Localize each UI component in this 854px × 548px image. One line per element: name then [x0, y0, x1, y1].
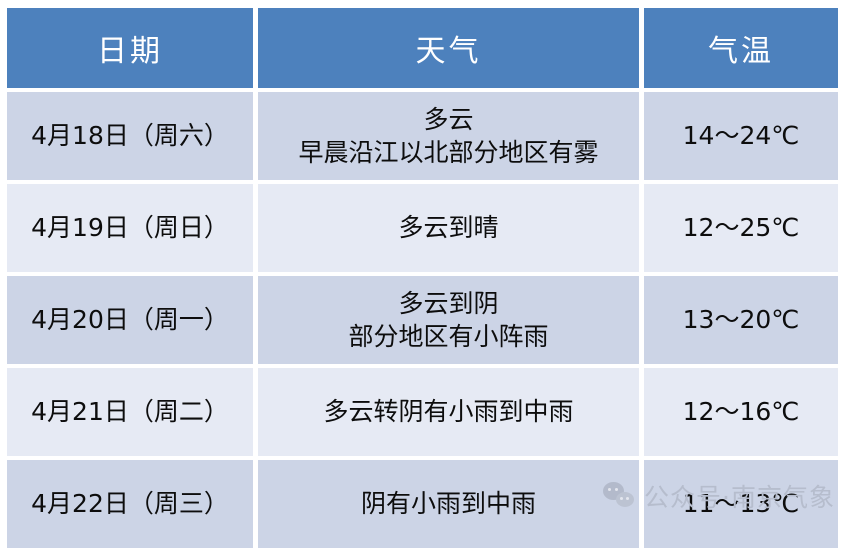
cell-date: 4月21日（周二） — [7, 368, 253, 456]
cell-date: 4月20日（周一） — [7, 276, 253, 364]
temperature-text: 11～13℃ — [683, 487, 800, 521]
weather-forecast-table: 日期 天气 气温 4月18日（周六） 多云 早晨沿江以北部分地区有雾 14～24… — [7, 8, 838, 533]
cell-date: 4月19日（周日） — [7, 184, 253, 272]
weather-text-line2: 早晨沿江以北部分地区有雾 — [298, 136, 598, 170]
cell-date: 4月18日（周六） — [7, 92, 253, 180]
temperature-text: 14～24℃ — [683, 119, 800, 153]
temperature-text: 12～16℃ — [683, 395, 800, 429]
cell-weather: 多云 早晨沿江以北部分地区有雾 — [258, 92, 639, 180]
column-header-temp-label: 气温 — [708, 26, 774, 70]
cell-temperature: 12～25℃ — [644, 184, 838, 272]
date-text: 4月19日（周日） — [31, 211, 229, 245]
date-text: 4月20日（周一） — [31, 303, 229, 337]
table-row: 4月19日（周日） 多云到晴 12～25℃ — [7, 184, 838, 272]
cell-date: 4月22日（周三） — [7, 460, 253, 548]
weather-text-line1: 阴有小雨到中雨 — [361, 487, 536, 521]
table-header-row: 日期 天气 气温 — [7, 8, 838, 88]
weather-text-line1: 多云到阴 — [398, 287, 498, 321]
temperature-text: 13～20℃ — [683, 303, 800, 337]
table-row: 4月21日（周二） 多云转阴有小雨到中雨 12～16℃ — [7, 368, 838, 456]
column-header-weather-label: 天气 — [416, 26, 482, 70]
cell-weather: 阴有小雨到中雨 — [258, 460, 639, 548]
temperature-text: 12～25℃ — [683, 211, 800, 245]
date-text: 4月21日（周二） — [31, 395, 229, 429]
cell-weather: 多云到晴 — [258, 184, 639, 272]
date-text: 4月18日（周六） — [31, 119, 229, 153]
cell-temperature: 12～16℃ — [644, 368, 838, 456]
weather-text-line1: 多云 — [423, 103, 473, 137]
column-header-date: 日期 — [7, 8, 253, 88]
cell-temperature: 14～24℃ — [644, 92, 838, 180]
weather-text-line1: 多云转阴有小雨到中雨 — [323, 395, 573, 429]
table-row: 4月20日（周一） 多云到阴 部分地区有小阵雨 13～20℃ — [7, 276, 838, 364]
column-header-temp: 气温 — [644, 8, 838, 88]
date-text: 4月22日（周三） — [31, 487, 229, 521]
weather-text-line1: 多云到晴 — [398, 211, 498, 245]
cell-temperature: 11～13℃ — [644, 460, 838, 548]
table-row: 4月22日（周三） 阴有小雨到中雨 11～13℃ — [7, 460, 838, 548]
table-row: 4月18日（周六） 多云 早晨沿江以北部分地区有雾 14～24℃ — [7, 92, 838, 180]
column-header-date-label: 日期 — [97, 26, 163, 70]
column-header-weather: 天气 — [258, 8, 639, 88]
cell-weather: 多云到阴 部分地区有小阵雨 — [258, 276, 639, 364]
weather-text-line2: 部分地区有小阵雨 — [348, 320, 548, 354]
cell-weather: 多云转阴有小雨到中雨 — [258, 368, 639, 456]
cell-temperature: 13～20℃ — [644, 276, 838, 364]
